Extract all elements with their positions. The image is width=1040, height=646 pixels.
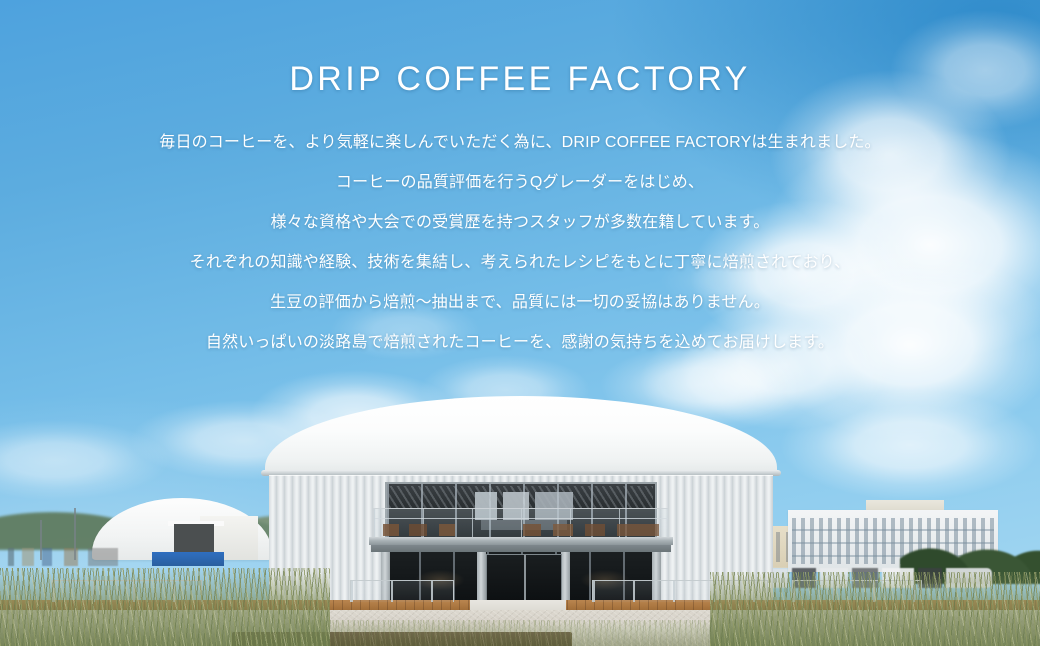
utility-pole xyxy=(74,508,76,560)
entrance-doors xyxy=(486,554,562,602)
arched-roof xyxy=(265,396,777,474)
blue-container xyxy=(152,552,224,566)
balcony-floor xyxy=(369,537,673,545)
deck-railing xyxy=(52,580,202,602)
warehouse-door xyxy=(174,524,214,554)
hero-line: コーヒーの品質評価を行うQグレーダーをはじめ、 xyxy=(0,163,1040,203)
hero-line: 自然いっぱいの淡路島で焙煎されたコーヒーを、感謝の気持ちを込めてお届けします。 xyxy=(0,323,1040,363)
utility-pole xyxy=(40,520,42,560)
photo-landscape xyxy=(0,356,1040,646)
page-title: DRIP COFFEE FACTORY xyxy=(0,62,1040,96)
entry-mat xyxy=(232,632,572,646)
hero-line: 毎日のコーヒーを、より気軽に楽しんでいただく為に、DRIP COFFEE FAC… xyxy=(0,123,1040,163)
facade-column xyxy=(477,552,486,602)
deck-railing xyxy=(592,580,768,602)
facade-column xyxy=(561,552,570,602)
balcony-underside xyxy=(371,545,671,552)
yard-equipment xyxy=(8,548,118,566)
terrace-seating xyxy=(383,524,659,536)
hero-line: 様々な資格や大会での受賞歴を持つスタッフが多数在籍しています。 xyxy=(0,203,1040,243)
main-factory-building xyxy=(265,396,777,610)
hero-copy: DRIP COFFEE FACTORY 毎日のコーヒーを、より気軽に楽しんでいた… xyxy=(0,0,1040,363)
hero-line: 生豆の評価から焙煎〜抽出まで、品質には一切の妥協はありません。 xyxy=(0,283,1040,323)
hero-banner: DRIP COFFEE FACTORY 毎日のコーヒーを、より気軽に楽しんでいた… xyxy=(0,0,1040,646)
ceiling-louvers xyxy=(389,486,653,508)
hero-description: 毎日のコーヒーを、より気軽に楽しんでいただく為に、DRIP COFFEE FAC… xyxy=(0,123,1040,363)
hero-line: それぞれの知識や経験、技術を集結し、考えられたレシピをもとに丁寧に焙煎されており… xyxy=(0,243,1040,283)
deck-railing xyxy=(350,580,454,602)
deck-railing xyxy=(792,580,922,602)
